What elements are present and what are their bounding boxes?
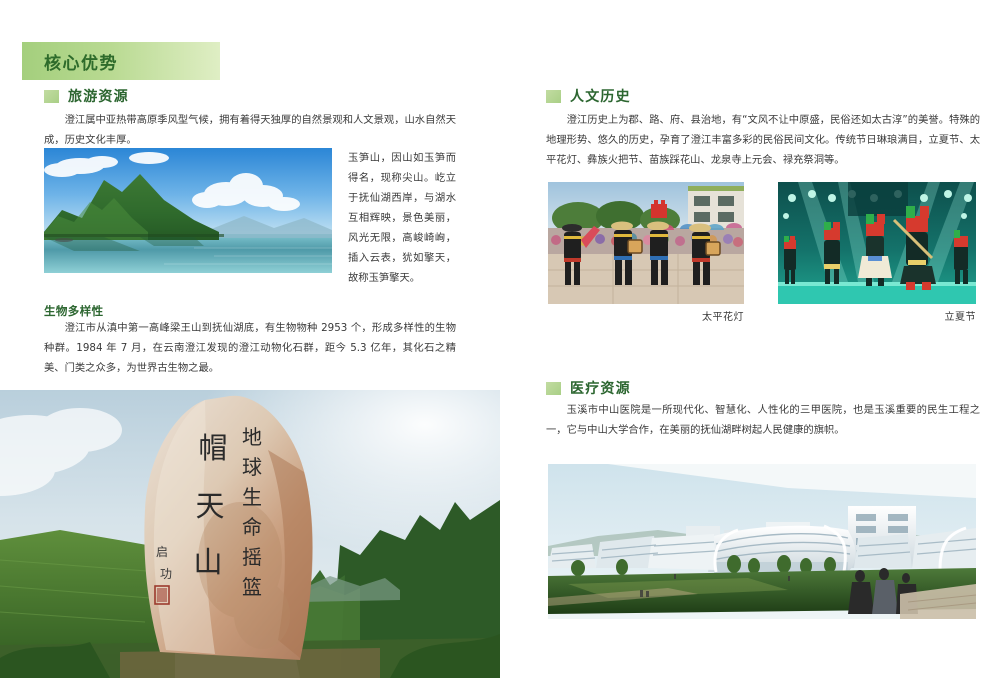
heading-tourism-resources: 旅游资源 xyxy=(44,86,129,106)
svg-text:帽: 帽 xyxy=(198,431,227,465)
taiping-lantern-image xyxy=(548,182,744,304)
svg-text:篮: 篮 xyxy=(242,575,262,599)
section-marker-icon xyxy=(44,90,59,103)
heading-biodiversity: 生物多样性 xyxy=(44,300,104,319)
caption-taiping-lantern: 太平花灯 xyxy=(548,308,744,323)
svg-text:摇: 摇 xyxy=(242,545,262,569)
photo-zhongshan-hospital xyxy=(548,464,976,619)
right-column: 人文历史 澄江历史上为郡、路、府、县治地，有“文风不让中原盛，民俗还如太古淳”的… xyxy=(546,0,980,678)
paragraph-tourism: 澄江属中亚热带高原季风型气候，拥有着得天独厚的自然景观和人文景观，山水自然天成，… xyxy=(44,110,456,150)
svg-text:命: 命 xyxy=(242,515,262,539)
maotianshan-stone-image: 地 球 生 命 摇 篮 帽 天 山 启 功 xyxy=(0,390,500,678)
zhongshan-hospital-image xyxy=(548,464,976,619)
svg-text:生: 生 xyxy=(242,485,262,509)
svg-text:山: 山 xyxy=(193,545,222,579)
left-column: 旅游资源 澄江属中亚热带高原季风型气候，拥有着得天独厚的自然景观和人文景观，山水… xyxy=(0,0,500,678)
paragraph-biodiversity: 澄江市从滇中第一高峰梁王山到抚仙湖底，有生物物种 2953 个，形成多样性的生物… xyxy=(44,318,456,378)
section-marker-icon xyxy=(546,382,561,395)
photo-maotianshan-stone: 地 球 生 命 摇 篮 帽 天 山 启 功 xyxy=(0,390,500,678)
fuxian-lake-image xyxy=(44,148,332,273)
sidetext-yusun-mountain: 玉笋山，因山如玉笋而得名，现称尖山。屹立于抚仙湖西岸，与湖水互相辉映，景色美丽，… xyxy=(348,148,456,289)
photo-fuxian-lake xyxy=(44,148,332,273)
heading-humanities-history: 人文历史 xyxy=(546,86,631,106)
photo-lixia-festival xyxy=(778,182,976,304)
caption-lixia-festival: 立夏节 xyxy=(778,308,976,323)
svg-text:地: 地 xyxy=(242,425,262,449)
section-marker-icon xyxy=(546,90,561,103)
section-title-humanities: 人文历史 xyxy=(570,86,631,106)
heading-medical-resources: 医疗资源 xyxy=(546,378,631,398)
brochure-page: 核心优势 旅游资源 澄江属中亚热带高原季风型气候，拥有着得天独厚的自然景观和人文… xyxy=(0,0,1000,678)
section-title-medical: 医疗资源 xyxy=(570,378,631,398)
photo-taiping-lantern xyxy=(548,182,744,304)
svg-text:天: 天 xyxy=(195,489,224,523)
paragraph-humanities: 澄江历史上为郡、路、府、县治地，有“文风不让中原盛，民俗还如太古淳”的美誉。特殊… xyxy=(546,110,980,170)
paragraph-medical: 玉溪市中山医院是一所现代化、智慧化、人性化的三甲医院，也是玉溪重要的民生工程之一… xyxy=(546,400,980,440)
lixia-festival-image xyxy=(778,182,976,304)
section-title-tourism: 旅游资源 xyxy=(68,86,129,106)
section-title-biodiversity: 生物多样性 xyxy=(44,304,104,318)
svg-text:球: 球 xyxy=(242,455,262,479)
svg-text:启: 启 xyxy=(156,545,168,559)
svg-text:功: 功 xyxy=(160,567,172,581)
